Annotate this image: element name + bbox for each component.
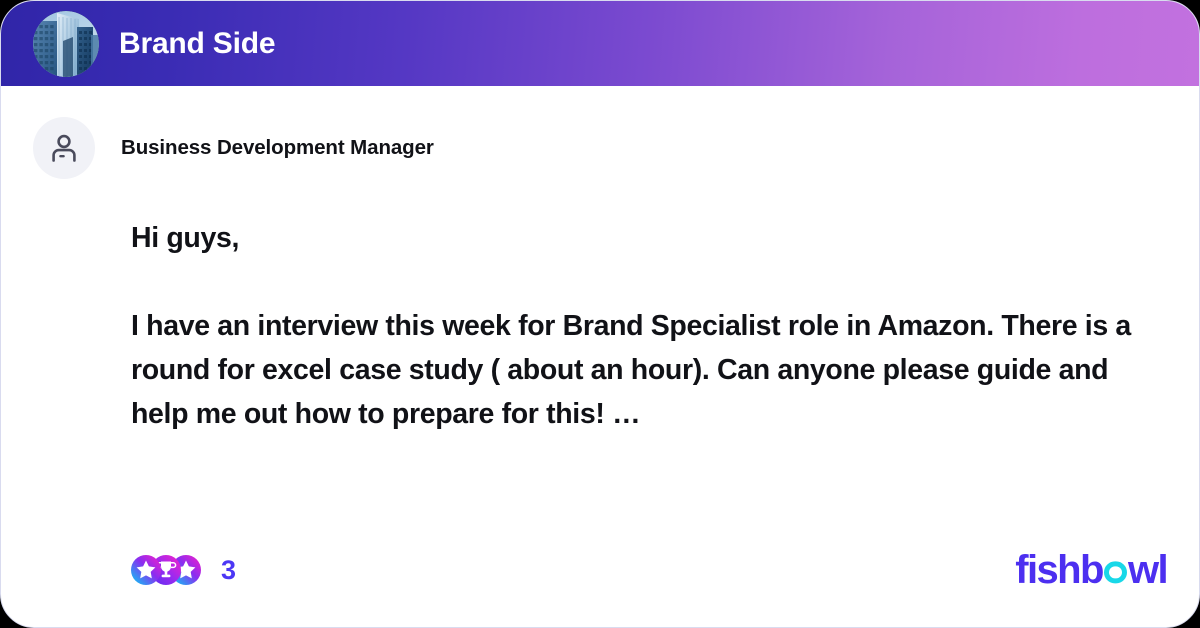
post-body: Business Development Manager Hi guys, I …: [1, 86, 1199, 627]
avatar: [33, 117, 95, 179]
paragraph-spacer: [131, 260, 1151, 304]
author-title: Business Development Manager: [121, 136, 434, 160]
post-greeting: Hi guys,: [131, 216, 1151, 260]
fishbowl-post-card: Brand Side Business Development Manager …: [0, 0, 1200, 628]
bowl-name: Brand Side: [119, 27, 275, 61]
bowl-avatar: [33, 11, 99, 77]
person-icon: [47, 131, 81, 165]
reaction-count: 3: [221, 555, 236, 586]
post-content: Hi guys, I have an interview this week f…: [131, 216, 1151, 436]
fishbowl-logo: fishb wl: [1015, 550, 1167, 590]
logo-o-ring-icon: [1104, 561, 1126, 583]
post-body-text: I have an interview this week for Brand …: [131, 304, 1151, 436]
star-reaction-icon[interactable]: [131, 555, 161, 585]
reactions-group[interactable]: 3: [131, 555, 236, 586]
logo-text-part-two: wl: [1128, 550, 1167, 590]
reaction-icon-stack[interactable]: [131, 555, 201, 585]
post-footer: 3 fishb wl: [33, 547, 1167, 593]
office-buildings-photo-icon: [33, 11, 99, 77]
author-row: Business Development Manager: [33, 116, 1167, 180]
logo-text-part-one: fishb: [1015, 550, 1103, 590]
bowl-header: Brand Side: [1, 1, 1199, 86]
